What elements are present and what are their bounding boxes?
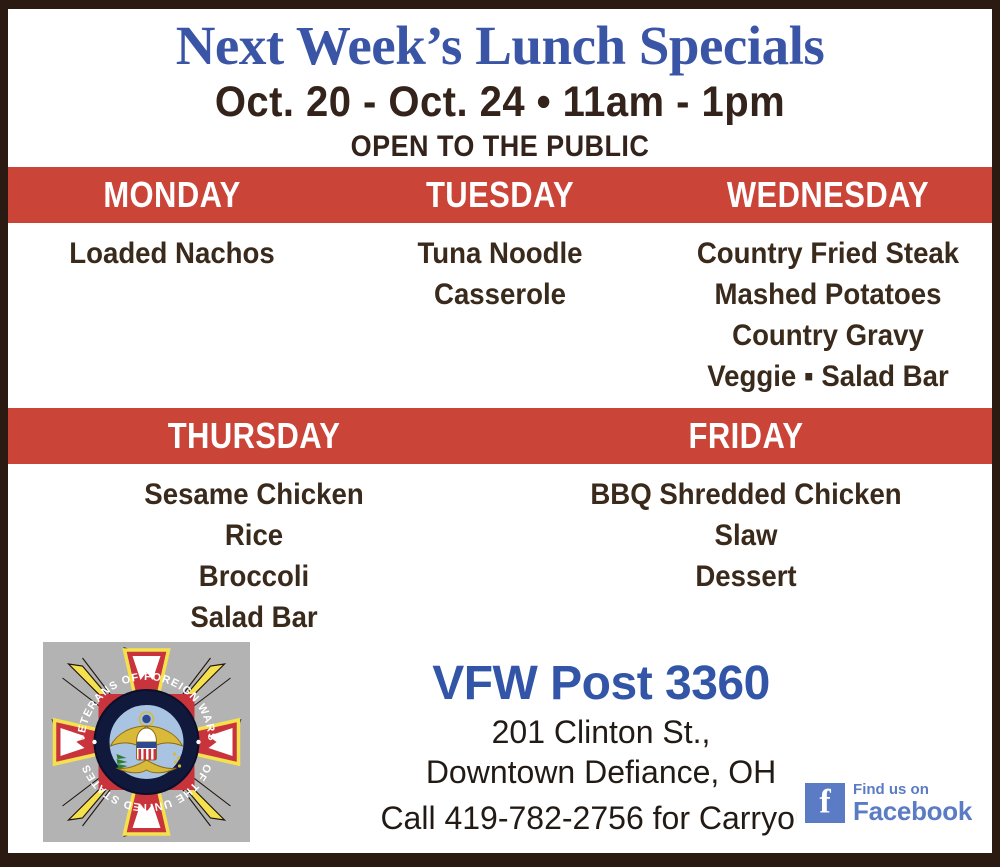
flyer-sheet: Next Week’s Lunch Specials Oct. 20 - Oct…: [8, 9, 992, 853]
menu-item: Rice: [33, 515, 475, 556]
facebook-icon-glyph: f: [805, 785, 845, 819]
menu-row-1: Loaded Nachos Tuna Noodle Casserole Coun…: [8, 223, 992, 397]
post-address-line-1: 201 Clinton St.,: [250, 712, 952, 752]
day-header-monday: MONDAY: [31, 175, 313, 215]
day-header-thursday: THURSDAY: [42, 416, 465, 456]
facebook-badge-text: Find us on Facebook: [853, 781, 972, 825]
menu-item: Veggie ▪ Salad Bar: [683, 356, 974, 397]
facebook-wordmark: Facebook: [853, 798, 972, 825]
menu-item: Country Fried Steak: [683, 233, 974, 274]
menu-item: Dessert: [525, 556, 967, 597]
facebook-icon: f: [805, 783, 845, 823]
flyer-frame: Next Week’s Lunch Specials Oct. 20 - Oct…: [0, 0, 1000, 867]
day-header-wednesday: WEDNESDAY: [687, 175, 969, 215]
day-header-bar-row2: THURSDAY FRIDAY: [8, 408, 992, 464]
menu-column-wednesday: Country Fried Steak Mashed Potatoes Coun…: [664, 233, 992, 397]
menu-row-2: Sesame Chicken Rice Broccoli Salad Bar B…: [8, 464, 992, 638]
day-header-tuesday: TUESDAY: [359, 175, 641, 215]
menu-item: Country Gravy: [683, 315, 974, 356]
day-header-bar-row1: MONDAY TUESDAY WEDNESDAY: [8, 167, 992, 223]
menu-column-monday: Loaded Nachos: [8, 233, 336, 397]
day-header-friday: FRIDAY: [534, 416, 957, 456]
menu-item: Slaw: [525, 515, 967, 556]
page-title: Next Week’s Lunch Specials: [8, 15, 992, 77]
find-us-on-facebook-badge[interactable]: f Find us on Facebook: [797, 776, 982, 830]
menu-item: Broccoli: [33, 556, 475, 597]
flyer-header: Next Week’s Lunch Specials Oct. 20 - Oct…: [8, 9, 992, 167]
open-to-public-notice: OPEN TO THE PUBLIC: [57, 127, 943, 167]
menu-item: Salad Bar: [33, 597, 475, 638]
post-name: VFW Post 3360: [250, 656, 952, 712]
menu-item: Mashed Potatoes: [683, 274, 974, 315]
menu-item: Tuna Noodle: [355, 233, 646, 274]
vfw-emblem-icon: VETERANS OF FOREIGN WARS OF THE UNITED S…: [43, 642, 250, 842]
menu-column-friday: BBQ Shredded Chicken Slaw Dessert: [500, 474, 992, 638]
flyer-footer: VETERANS OF FOREIGN WARS OF THE UNITED S…: [8, 642, 992, 842]
menu-item: Sesame Chicken: [33, 474, 475, 515]
menu-item: BBQ Shredded Chicken: [525, 474, 967, 515]
menu-item: Casserole: [355, 274, 646, 315]
menu-column-thursday: Sesame Chicken Rice Broccoli Salad Bar: [8, 474, 500, 638]
menu-column-tuesday: Tuna Noodle Casserole: [336, 233, 664, 397]
date-time-subtitle: Oct. 20 - Oct. 24 • 11am - 1pm: [42, 77, 957, 127]
menu-item: Loaded Nachos: [27, 233, 318, 274]
